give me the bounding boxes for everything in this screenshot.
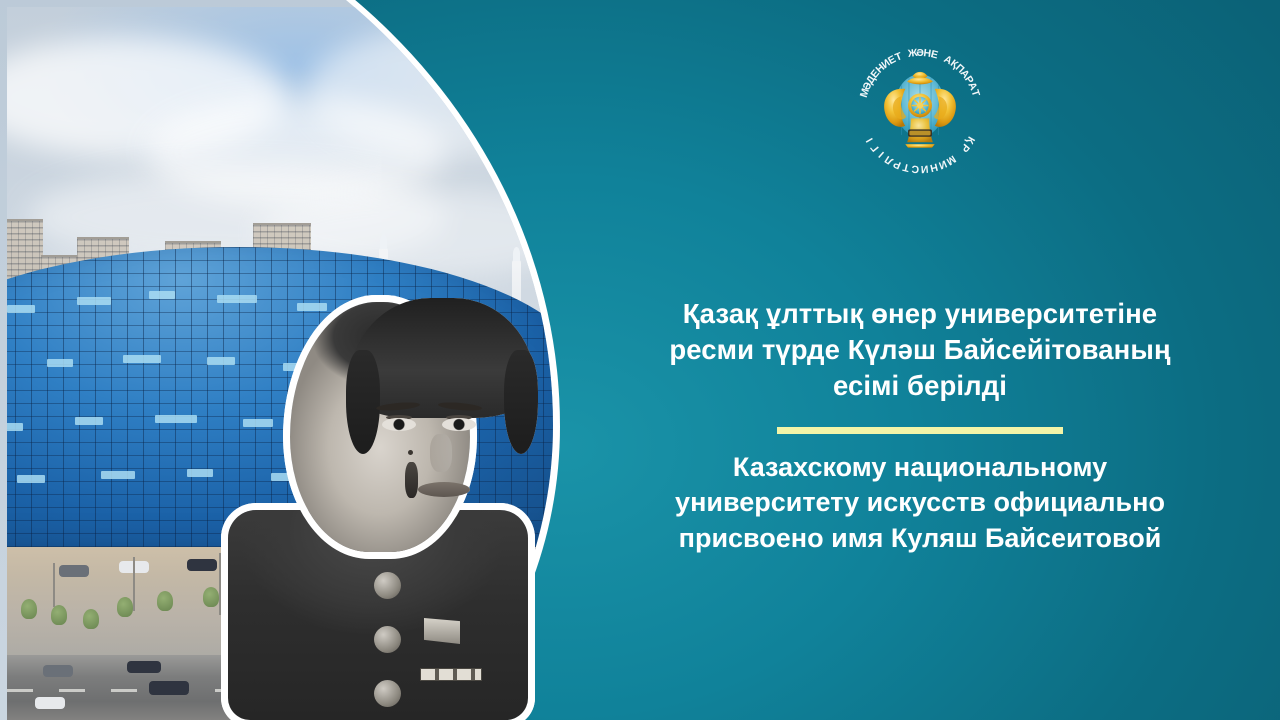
tree [21,599,37,619]
moving-car [43,665,73,677]
portrait-frame [228,302,528,720]
nose [430,434,452,472]
hair [348,298,536,418]
mole [408,450,413,455]
street-lamp [133,557,135,611]
headline-line: есімі берілді [594,368,1246,404]
tree [83,609,99,629]
headline-line: Қазақ ұлттық өнер университетіне [594,296,1246,332]
ministry-emblem: МӘДЕНИЕТ ЖӘНЕ АҚПАРАТҚР МИНИСТРЛІГІ [855,46,985,176]
medal-badge [424,618,460,644]
street-lamp [53,563,55,607]
headline-line: ресми түрде Күләш Байсейітованың [594,332,1246,368]
announcement-card: МӘДЕНИЕТ ЖӘНЕ АҚПАРАТҚР МИНИСТРЛІГІ [0,0,1280,720]
headline-kazakh: Қазақ ұлттық өнер университетіне ресми т… [560,296,1280,403]
coat-button [374,626,401,653]
coat-button [374,572,401,599]
content-column: МӘДЕНИЕТ ЖӘНЕ АҚПАРАТҚР МИНИСТРЛІГІ [560,0,1280,720]
emblem-ring-char: С [911,163,920,176]
ribbon-bar [420,668,482,681]
subline-russian: Казахскому национальному университету ис… [560,450,1280,556]
moving-car [35,697,65,709]
eye [442,418,476,431]
lips [418,482,470,497]
portrait-head [290,302,470,552]
tree [157,591,173,611]
parked-car [59,565,89,577]
parked-car [187,559,217,571]
tree [51,605,67,625]
tree [117,597,133,617]
coat-button [374,680,401,707]
emblem-ring-char: Т [902,161,911,174]
emblem-ring-char: И [920,163,928,176]
street-lamp [219,553,221,615]
eye [382,418,416,431]
moving-car [149,681,189,695]
subline-line: университету искусств официально [590,485,1250,520]
moving-car [127,661,161,673]
tree [203,587,219,607]
subline-line: Казахскому национальному [590,450,1250,485]
divider-line [777,427,1063,434]
subline-line: присвоено имя Куляш Байсеитовой [590,521,1250,556]
earring [405,462,418,498]
portrait-kulyash-baiseitova [228,302,528,720]
shanyrak-coat-of-arms-icon [874,65,966,157]
